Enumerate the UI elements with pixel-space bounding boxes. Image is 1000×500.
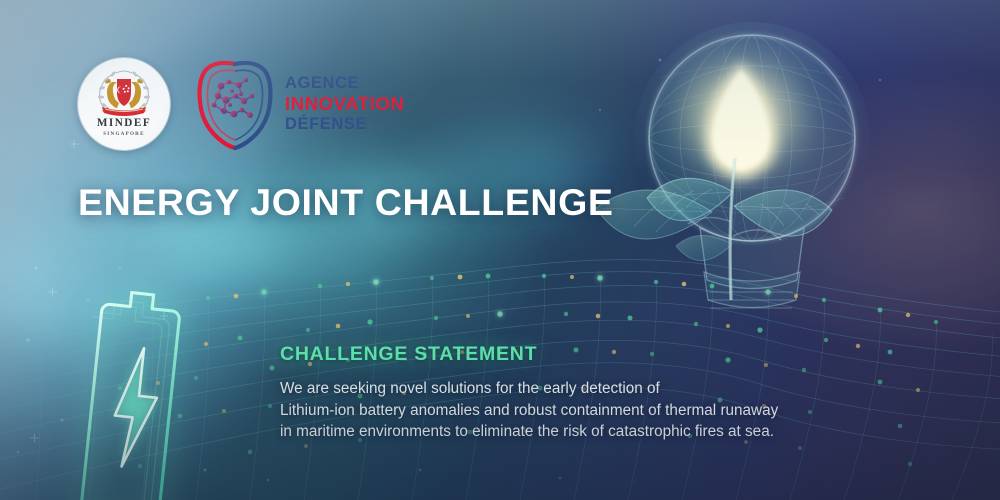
energy-joint-challenge-banner: MINDEF SINGAPORE	[0, 0, 1000, 500]
singapore-coat-of-arms-icon	[93, 68, 155, 118]
aid-line-innovation: INNOVATION	[285, 95, 404, 114]
mindef-name: MINDEF	[78, 118, 170, 129]
aid-line-agence: AGENCE	[285, 75, 404, 92]
challenge-statement-heading: CHALLENGE STATEMENT	[280, 343, 537, 366]
aid-logo: AGENCE INNOVATION DÉFENSE	[196, 58, 404, 150]
mindef-subtitle: SINGAPORE	[78, 132, 170, 137]
aid-line-defense: DÉFENSE	[285, 116, 404, 133]
challenge-statement-body: We are seeking novel solutions for the e…	[280, 378, 920, 443]
challenge-body-line: We are seeking novel solutions for the e…	[280, 378, 920, 400]
challenge-body-line: Lithium-ion battery anomalies and robust…	[280, 400, 920, 422]
challenge-body-line: in maritime environments to eliminate th…	[280, 421, 920, 443]
logo-row: MINDEF SINGAPORE	[78, 56, 404, 152]
mindef-logo: MINDEF SINGAPORE	[78, 58, 170, 150]
page-title: ENERGY JOINT CHALLENGE	[78, 181, 614, 224]
aid-wordmark: AGENCE INNOVATION DÉFENSE	[285, 75, 404, 133]
aid-shield-icon	[196, 58, 274, 150]
lightbulb-graphic	[634, 22, 870, 308]
battery-icon	[72, 289, 182, 500]
